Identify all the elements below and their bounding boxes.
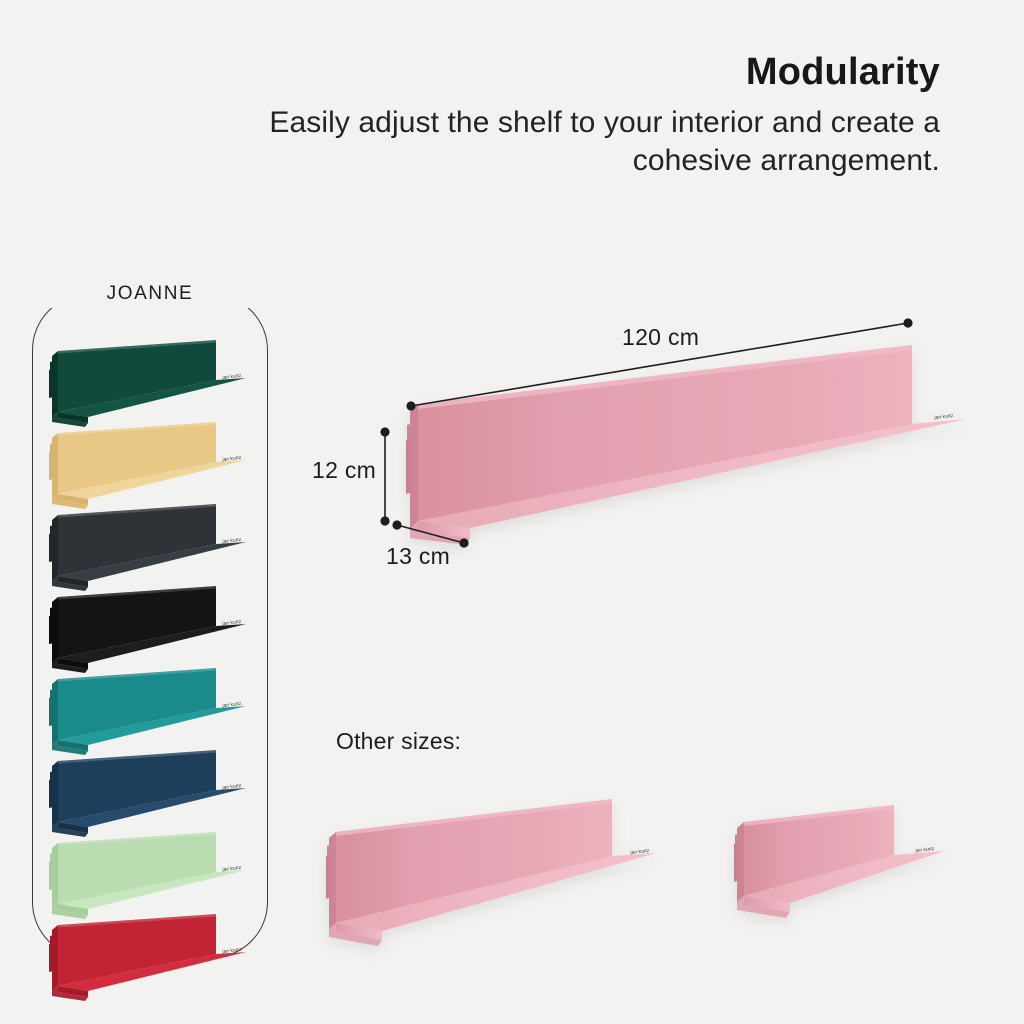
other-shelf-medium[interactable]: jan kurtz [326,799,656,946]
color-swatch-crimson-red[interactable] [50,914,260,1000]
dimension-label-length: 120 cm [622,324,699,351]
color-swatch-mint-green[interactable] [50,832,260,918]
color-swatch-dark-green[interactable] [50,340,260,426]
brand-mark-main: jan kurtz [933,413,954,421]
color-swatch-black[interactable] [50,586,260,672]
page-subtitle: Easily adjust the shelf to your interior… [240,104,940,181]
color-swatch-teal[interactable] [50,668,260,754]
brand-mark-small: jan kurtz [914,846,935,854]
color-swatch-navy-blue[interactable] [50,750,260,836]
dimension-label-height: 12 cm [312,457,376,484]
main-shelf-120cm[interactable]: jan kurtz [406,345,966,545]
brand-mark-medium: jan kurtz [629,848,650,856]
page-title: Modularity [240,52,940,94]
dimension-line-height [380,427,389,525]
dimension-label-depth: 13 cm [386,543,450,570]
color-swatch-list [32,294,268,958]
color-swatch-anthracite[interactable] [50,504,260,590]
infographic-canvas: Modularity Easily adjust the shelf to yo… [0,0,1024,1024]
other-sizes-label: Other sizes: [336,728,461,755]
color-swatch-sand-gold[interactable] [50,422,260,508]
other-shelf-small[interactable]: jan kurtz [734,805,944,918]
header-block: Modularity Easily adjust the shelf to yo… [240,52,940,181]
